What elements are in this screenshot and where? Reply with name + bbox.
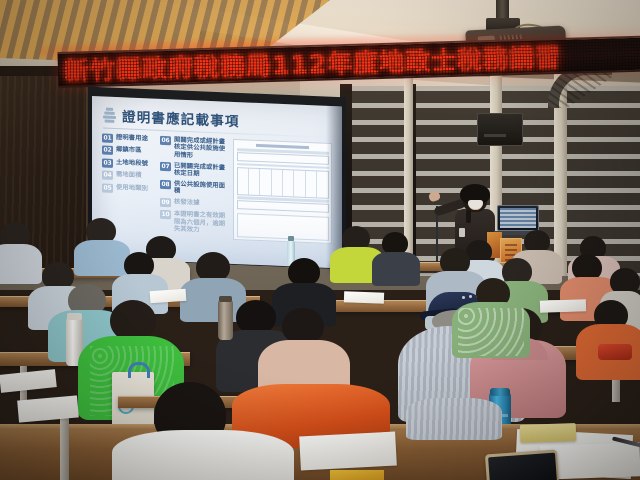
cap-dot (469, 295, 472, 298)
attendee-torso (112, 430, 294, 480)
floral-pattern (458, 308, 524, 356)
paper-sheet (150, 289, 187, 303)
list-item: 09 核發法據 (160, 198, 228, 210)
presenter-laptop (497, 205, 539, 231)
list-item: 04 需地面積 (102, 171, 155, 182)
thermos-lid (219, 296, 232, 302)
cap-dot (462, 296, 465, 299)
attendee-torso (74, 240, 130, 276)
yellow-folder (330, 470, 384, 480)
item-number: 02 (102, 146, 113, 155)
item-label: 需地面積 (116, 171, 142, 179)
bottle-cap (288, 236, 294, 241)
item-label: 核發法據 (174, 198, 200, 206)
item-label: 本證明書之有效期限為六個月，逾期失其效力 (174, 211, 228, 235)
item-number: 07 (160, 161, 171, 170)
wall-monitor (477, 113, 523, 146)
item-label: 供公共設施使用面積 (174, 180, 228, 197)
paper-sheet (0, 369, 57, 393)
certificate-form-thumbnail (233, 139, 332, 244)
paper-sheet (344, 291, 384, 303)
list-item: 08 供公共設施使用面積 (160, 180, 228, 198)
paper-sheet (299, 432, 397, 471)
item-number: 10 (160, 210, 171, 219)
item-number: 04 (102, 171, 113, 180)
list-item: 06 開闢完成或經計畫核定供公共設施使用情形 (160, 136, 228, 161)
item-label: 已開闢完成或計畫核定日期 (174, 162, 228, 179)
laptop-screen (500, 208, 536, 228)
seminar-photo: 新竹縣政府稅務局112年度地政士稅務講習 證明書應記載事項 01 證明書用途 (0, 0, 640, 480)
handheld-microphone (466, 210, 471, 223)
bag-handle (128, 362, 150, 378)
thermos-lid (67, 313, 82, 320)
list-item: 03 土地地段號 (102, 158, 155, 169)
item-label: 證明書用途 (116, 134, 148, 143)
attendee-head (288, 258, 320, 286)
attendee-head (236, 300, 276, 334)
item-label: 鄉鎮市區 (116, 146, 142, 154)
item-label: 土地地段號 (116, 159, 148, 168)
list-item: 05 使用地類別 (102, 183, 155, 194)
smartphone (485, 450, 559, 480)
thermos-lid (490, 388, 510, 396)
list-item: 02 鄉鎮市區 (102, 146, 155, 157)
attendee-torso (406, 398, 502, 440)
item-label: 開闢完成或經計畫核定供公共設施使用情形 (174, 136, 228, 160)
item-number: 01 (102, 133, 113, 142)
item-number: 03 (102, 158, 113, 167)
item-number: 08 (160, 180, 171, 189)
slide-list-right: 06 開闢完成或經計畫核定供公共設施使用情形 07 已開闢完成或計畫核定日期 0… (160, 136, 228, 240)
list-item: 01 證明書用途 (102, 133, 155, 144)
list-item: 10 本證明書之有效期限為六個月，逾期失其效力 (160, 210, 228, 235)
paper-sheet (540, 299, 586, 313)
thermos-steel (218, 300, 233, 340)
red-pouch (598, 344, 632, 360)
attendee-torso (0, 244, 42, 284)
projection-screen: 證明書應記載事項 01 證明書用途 02 鄉鎮市區 03 土地地段 (92, 96, 342, 268)
list-item: 07 已開闢完成或計畫核定日期 (160, 161, 228, 179)
item-label: 使用地類別 (116, 184, 148, 193)
slide-title: 證明書應記載事項 (122, 105, 240, 130)
layered-hexagon-logo-icon (103, 107, 116, 122)
speaker-badge (459, 228, 465, 237)
sticky-note-block (520, 423, 577, 443)
attendee-torso (372, 252, 420, 286)
item-number: 05 (102, 183, 113, 192)
attendee-head (282, 308, 324, 344)
item-number: 06 (160, 136, 171, 145)
paper-sheet (17, 395, 79, 422)
item-number: 09 (160, 198, 171, 207)
